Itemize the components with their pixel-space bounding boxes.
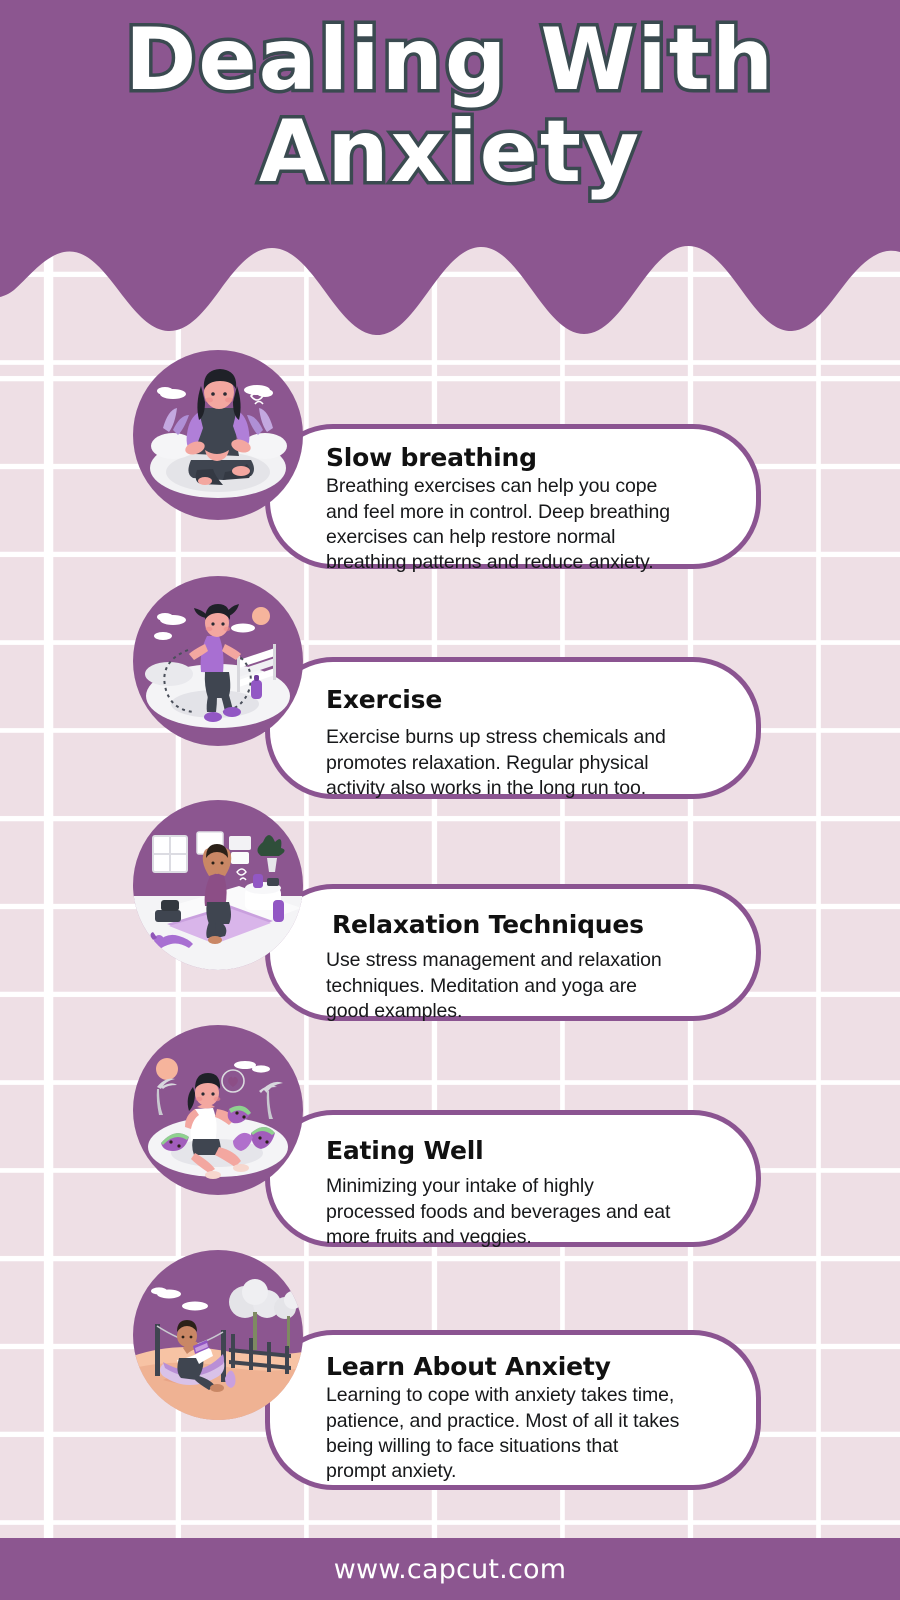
yoga-illustration-icon [133, 800, 303, 970]
tip-title: Slow breathing [326, 442, 722, 473]
jump-rope-illustration-icon [133, 576, 303, 746]
tip-body: Exercise burns up stress chemicals and p… [326, 725, 722, 801]
footer-bar: www.capcut.com [0, 1538, 900, 1600]
eating-watermelon-illustration-icon [133, 1025, 303, 1195]
hammock-reading-illustration-icon [133, 1250, 303, 1420]
tip-body: Breathing exercises can help you cope an… [326, 474, 722, 575]
tip-title: Relaxation Techniques [326, 909, 722, 940]
meditation-illustration-icon [133, 350, 303, 520]
tip-card[interactable]: Slow breathing Breathing exercises can h… [265, 424, 761, 569]
tip-card[interactable]: Learn About Anxiety Learning to cope wit… [265, 1330, 761, 1490]
tip-title: Eating Well [326, 1135, 722, 1166]
tip-card[interactable]: Eating Well Minimizing your intake of hi… [265, 1110, 761, 1247]
tip-body: Use stress management and relaxation tec… [326, 948, 722, 1024]
tip-title: Learn About Anxiety [326, 1351, 722, 1382]
tip-card[interactable]: Relaxation Techniques Use stress managem… [265, 884, 761, 1021]
tip-body: Minimizing your intake of highly process… [326, 1174, 722, 1250]
tip-card[interactable]: Exercise Exercise burns up stress chemic… [265, 657, 761, 799]
tip-title: Exercise [326, 684, 722, 715]
footer-url[interactable]: www.capcut.com [334, 1554, 566, 1585]
tips-list: Slow breathing Breathing exercises can h… [0, 0, 900, 1600]
tip-body: Learning to cope with anxiety takes time… [326, 1383, 722, 1484]
